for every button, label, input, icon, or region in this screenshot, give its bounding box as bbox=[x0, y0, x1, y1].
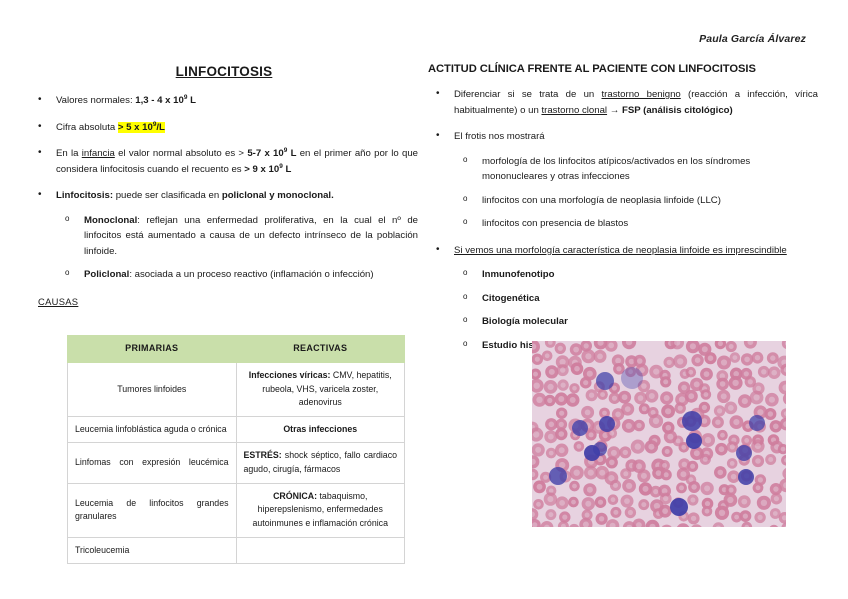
rbc-central-pallor bbox=[636, 463, 642, 469]
rbc-central-pallor bbox=[560, 367, 565, 372]
rbc-central-pallor bbox=[702, 346, 708, 352]
rbc-central-pallor bbox=[690, 464, 695, 469]
rbc-central-pallor bbox=[733, 371, 739, 377]
rbc-central-pallor bbox=[769, 397, 775, 403]
rbc-central-pallor bbox=[664, 472, 669, 477]
rbc-central-pallor bbox=[570, 397, 576, 403]
cell-reactiva: ESTRÉS: shock séptico, fallo cardiaco ag… bbox=[236, 443, 405, 483]
column-header-primarias: PRIMARIAS bbox=[68, 336, 237, 363]
rbc-central-pallor bbox=[612, 396, 617, 401]
bullet-diferenciar: Diferenciar si se trata de un trastorno … bbox=[428, 87, 818, 118]
sub-bullet-biologia-molecular: Biología molecular bbox=[454, 314, 818, 330]
rbc-central-pallor bbox=[708, 355, 714, 361]
rbc-central-pallor bbox=[691, 516, 696, 521]
left-column: LINFOCITOSIS Valores normales: 1,3 - 4 x… bbox=[30, 64, 418, 294]
rbc-central-pallor bbox=[643, 486, 649, 492]
rbc-central-pallor bbox=[705, 437, 711, 443]
rbc-central-pallor bbox=[719, 510, 725, 516]
rbc-central-pallor bbox=[680, 471, 686, 477]
rbc-central-pallor bbox=[679, 396, 685, 402]
cell-primaria: Leucemia linfoblástica aguda o crónica bbox=[68, 416, 237, 443]
rbc-central-pallor bbox=[534, 383, 540, 389]
bullet-frotis: El frotis nos mostrará morfología de los… bbox=[428, 129, 818, 232]
lymphocyte bbox=[749, 415, 765, 431]
rbc-central-pallor bbox=[558, 346, 563, 351]
rbc-central-pallor bbox=[585, 513, 590, 518]
highlight-part: > 5 x 10 bbox=[118, 122, 153, 133]
rbc-central-pallor bbox=[549, 369, 555, 375]
sub-bullet-monoclonal: Monoclonal: reflejan una enfermedad prol… bbox=[56, 213, 418, 260]
rbc-central-pallor bbox=[734, 515, 739, 520]
rbc-central-pallor bbox=[574, 470, 580, 476]
rbc-central-pallor bbox=[609, 431, 614, 436]
rbc-central-pallor bbox=[656, 470, 662, 476]
table-row: Leucemia linfoblástica aguda o crónica O… bbox=[68, 416, 405, 443]
rbc-central-pallor bbox=[641, 473, 647, 479]
bullet-value: 1,3 - 4 x 10 bbox=[135, 95, 184, 106]
rbc-central-pallor bbox=[571, 500, 576, 505]
rbc-central-pallor bbox=[612, 386, 617, 391]
rbc-central-pallor bbox=[584, 343, 589, 348]
rbc-central-pallor bbox=[537, 484, 543, 490]
bullet-value: 5-7 x 10 bbox=[247, 148, 283, 159]
rbc-central-pallor bbox=[638, 395, 644, 401]
rbc-central-pallor bbox=[705, 501, 710, 506]
rbc-central-pallor bbox=[665, 408, 671, 414]
table-row: Tricoleucemia bbox=[68, 537, 405, 564]
rbc-central-pallor bbox=[721, 393, 727, 399]
rbc-central-pallor bbox=[533, 372, 538, 377]
rbc-central-pallor bbox=[742, 398, 748, 404]
highlighted-value: > 5 x 109/L bbox=[118, 122, 165, 133]
bullet-text: el valor normal absoluto es > bbox=[115, 148, 247, 159]
rbc-central-pallor bbox=[598, 500, 603, 505]
rbc-central-pallor bbox=[755, 443, 761, 449]
lymphocyte bbox=[599, 416, 615, 432]
rbc-central-pallor bbox=[773, 486, 778, 491]
sub-bullet-label: Policlonal bbox=[84, 269, 129, 280]
rbc-central-pallor bbox=[690, 343, 696, 349]
lymphocyte bbox=[736, 445, 752, 461]
sub-bullet-morfologia-atipicos: morfología de los linfocitos atípicos/ac… bbox=[454, 154, 818, 185]
rbc-central-pallor bbox=[773, 424, 779, 430]
author-name: Paula García Álvarez bbox=[699, 33, 806, 45]
bullet-label: Linfocitosis: bbox=[56, 190, 113, 201]
cell-primaria: Tumores linfoides bbox=[68, 362, 237, 416]
rbc-central-pallor bbox=[732, 380, 738, 386]
cell-primaria: Tricoleucemia bbox=[68, 537, 237, 564]
underlined-term: trastorno clonal bbox=[541, 105, 607, 116]
rbc-central-pallor bbox=[615, 412, 621, 418]
rbc-central-pallor bbox=[548, 512, 553, 517]
rbc-central-pallor bbox=[549, 488, 554, 493]
rbc-central-pallor bbox=[731, 474, 737, 480]
rbc-central-pallor bbox=[559, 447, 565, 453]
rbc-central-pallor bbox=[761, 500, 767, 506]
rbc-central-pallor bbox=[755, 458, 761, 464]
arrow-icon: → bbox=[607, 105, 622, 116]
right-column: ACTITUD CLÍNICA FRENTE AL PACIENTE CON L… bbox=[428, 62, 818, 364]
rbc-central-pallor bbox=[665, 449, 670, 454]
bullet-text: Valores normales: bbox=[56, 95, 135, 106]
lymphocyte bbox=[549, 467, 567, 485]
rbc-central-pallor bbox=[758, 515, 763, 520]
rbc-central-pallor bbox=[613, 510, 618, 515]
rbc-central-pallor bbox=[695, 357, 701, 363]
causas-table: PRIMARIAS REACTIVAS Tumores linfoides In… bbox=[67, 335, 405, 564]
rbc-central-pallor bbox=[597, 354, 603, 360]
table-row: Tumores linfoides Infecciones víricas: C… bbox=[68, 362, 405, 416]
rbc-central-pallor bbox=[729, 488, 734, 493]
rbc-central-pallor bbox=[758, 477, 763, 482]
rbc-central-pallor bbox=[703, 457, 708, 462]
rbc-central-pallor bbox=[543, 475, 548, 480]
micrograph-canvas bbox=[532, 341, 786, 527]
rbc-central-pallor bbox=[681, 445, 686, 450]
sub-bullet-label: Inmunofenotipo bbox=[482, 269, 554, 280]
rbc-central-pallor bbox=[717, 408, 722, 413]
sub-bullet-neoplasia-llc: linfocitos con una morfología de neoplas… bbox=[454, 193, 818, 209]
rbc-central-pallor bbox=[616, 366, 621, 371]
cell-primaria: Leucemia de linfocitos grandes granulare… bbox=[68, 483, 237, 537]
rbc-central-pallor bbox=[599, 516, 604, 521]
sub-bullet-label: Citogenética bbox=[482, 293, 540, 304]
rbc-central-pallor bbox=[574, 366, 580, 372]
cell-label: Otras infecciones bbox=[283, 424, 357, 434]
rbc-central-pallor bbox=[589, 393, 594, 398]
rbc-central-pallor bbox=[664, 395, 670, 401]
rbc-central-pallor bbox=[649, 393, 655, 399]
rbc-central-pallor bbox=[628, 510, 633, 515]
rbc-central-pallor bbox=[705, 509, 710, 514]
rbc-central-pallor bbox=[626, 483, 632, 489]
column-header-reactivas: REACTIVAS bbox=[236, 336, 405, 363]
rbc-central-pallor bbox=[677, 358, 683, 364]
rbc-central-pallor bbox=[756, 485, 761, 490]
sub-bullet-inmunofenotipo: Inmunofenotipo bbox=[454, 267, 818, 283]
right-bullet-list: Diferenciar si se trata de un trastorno … bbox=[428, 87, 818, 353]
rbc-central-pallor bbox=[719, 446, 725, 452]
rbc-central-pallor bbox=[694, 450, 700, 456]
rbc-central-pallor bbox=[754, 394, 760, 400]
rbc-central-pallor bbox=[547, 398, 552, 403]
rbc-central-pallor bbox=[663, 379, 668, 384]
rbc-central-pallor bbox=[653, 369, 659, 375]
rbc-central-pallor bbox=[609, 460, 615, 466]
rbc-central-pallor bbox=[559, 431, 565, 437]
bullet-text: Cifra absoluta bbox=[56, 122, 118, 133]
bullet-unit: L bbox=[283, 164, 292, 175]
bullet-imprescindible: Si vemos una morfología característica d… bbox=[428, 243, 818, 354]
rbc-central-pallor bbox=[577, 444, 582, 449]
rbc-central-pallor bbox=[662, 508, 668, 514]
rbc-central-pallor bbox=[755, 355, 760, 360]
rbc-central-pallor bbox=[559, 422, 564, 427]
rbc-central-pallor bbox=[623, 471, 628, 476]
sub-bullet-label: Monoclonal bbox=[84, 215, 137, 226]
cell-reactiva: CRÓNICA: tabaquismo, hiperepslenismo, en… bbox=[236, 483, 405, 537]
rbc-central-pallor bbox=[642, 406, 647, 411]
rbc-central-pallor bbox=[585, 410, 591, 416]
rbc-central-pallor bbox=[629, 359, 635, 365]
rbc-central-pallor bbox=[728, 405, 734, 411]
rbc-central-pallor bbox=[730, 461, 735, 466]
rbc-central-pallor bbox=[622, 394, 628, 400]
rbc-central-pallor bbox=[720, 381, 726, 387]
rbc-central-pallor bbox=[599, 470, 605, 476]
bullet-unit: L bbox=[187, 95, 196, 106]
rbc-central-pallor bbox=[548, 434, 554, 440]
rbc-central-pallor bbox=[588, 470, 594, 476]
rbc-central-pallor bbox=[559, 411, 564, 416]
lymphocyte bbox=[670, 498, 688, 516]
rbc-central-pallor bbox=[768, 411, 773, 416]
rbc-central-pallor bbox=[585, 353, 591, 359]
table-row: Leucemia de linfocitos grandes granulare… bbox=[68, 483, 405, 537]
rbc-central-pallor bbox=[558, 396, 564, 402]
causas-label: CAUSAS bbox=[38, 296, 78, 307]
blood-smear-micrograph bbox=[532, 341, 786, 527]
lymphocyte bbox=[686, 433, 702, 449]
rbc-central-pallor bbox=[662, 463, 667, 468]
rbc-central-pallor bbox=[704, 392, 709, 397]
rbc-central-pallor bbox=[704, 485, 710, 491]
lymphocyte bbox=[738, 469, 754, 485]
rbc-central-pallor bbox=[681, 385, 687, 391]
rbc-central-pallor bbox=[667, 434, 673, 440]
cell-reactiva: Infecciones víricas: CMV, hepatitis, rub… bbox=[236, 362, 405, 416]
lymphocyte bbox=[682, 411, 702, 431]
rbc-central-pallor bbox=[715, 420, 720, 425]
lymphocyte bbox=[621, 367, 643, 389]
rbc-central-pallor bbox=[624, 498, 630, 504]
rbc-central-pallor bbox=[744, 438, 749, 443]
rbc-central-pallor bbox=[720, 433, 725, 438]
rbc-central-pallor bbox=[611, 497, 616, 502]
rbc-central-pallor bbox=[768, 457, 773, 462]
rbc-central-pallor bbox=[756, 386, 761, 391]
rbc-central-pallor bbox=[648, 444, 654, 450]
rbc-central-pallor bbox=[704, 371, 710, 377]
rbc-central-pallor bbox=[587, 371, 593, 377]
bullet-text: puede ser clasificada en bbox=[113, 190, 222, 201]
rbc-central-pallor bbox=[535, 447, 541, 453]
rbc-central-pallor bbox=[781, 447, 786, 452]
cell-label: ESTRÉS: bbox=[244, 450, 282, 460]
rbc-central-pallor bbox=[602, 411, 607, 416]
lymphocyte bbox=[572, 420, 588, 436]
left-bullet-list: Valores normales: 1,3 - 4 x 109 L Cifra … bbox=[30, 93, 418, 283]
rbc-central-pallor bbox=[774, 496, 779, 501]
rbc-central-pallor bbox=[691, 484, 696, 489]
rbc-central-pallor bbox=[536, 502, 541, 507]
bullet-text: Diferenciar si se trata de un bbox=[454, 89, 602, 100]
rbc-central-pallor bbox=[653, 489, 658, 494]
rbc-central-pallor bbox=[721, 359, 727, 365]
sub-bullet-list: morfología de los linfocitos atípicos/ac… bbox=[454, 154, 818, 232]
document-page: Paula García Álvarez LINFOCITOSIS Valore… bbox=[0, 0, 848, 599]
rbc-central-pallor bbox=[667, 360, 672, 365]
rbc-central-pallor bbox=[613, 483, 618, 488]
rbc-central-pallor bbox=[733, 419, 739, 425]
rbc-central-pallor bbox=[730, 444, 735, 449]
rbc-central-pallor bbox=[637, 358, 643, 364]
rbc-central-pallor bbox=[761, 369, 766, 374]
table-body: Tumores linfoides Infecciones víricas: C… bbox=[68, 362, 405, 563]
lymphocyte bbox=[593, 442, 607, 456]
rbc-central-pallor bbox=[678, 406, 683, 411]
table-head: PRIMARIAS REACTIVAS bbox=[68, 336, 405, 363]
rbc-central-pallor bbox=[583, 380, 588, 385]
highlight-unit: /L bbox=[156, 122, 165, 133]
rbc-central-pallor bbox=[561, 383, 566, 388]
rbc-central-pallor bbox=[635, 443, 641, 449]
rbc-central-pallor bbox=[615, 358, 621, 364]
rbc-central-pallor bbox=[585, 501, 591, 507]
bullet-text: En la bbox=[56, 148, 82, 159]
underlined-term: Si vemos una morfología característica d… bbox=[454, 245, 787, 256]
underlined-term: infancia bbox=[82, 148, 115, 159]
sub-bullet-text: : asociada a un proceso reactivo (inflam… bbox=[129, 269, 373, 280]
bullet-emphasis: FSP (análisis citológico) bbox=[622, 105, 733, 116]
table-row: Linfomas con expresión leucémica ESTRÉS:… bbox=[68, 443, 405, 483]
rbc-central-pallor bbox=[545, 353, 550, 358]
rbc-central-pallor bbox=[688, 370, 693, 375]
rbc-central-pallor bbox=[733, 355, 738, 360]
sub-bullet-blastos: linfocitos con presencia de blastos bbox=[454, 216, 818, 232]
rbc-central-pallor bbox=[536, 397, 542, 403]
rbc-central-pallor bbox=[572, 484, 577, 489]
sub-bullet-citogenetica: Citogenética bbox=[454, 291, 818, 307]
rbc-central-pallor bbox=[748, 379, 753, 384]
rbc-central-pallor bbox=[666, 425, 672, 431]
bullet-text: El frotis nos mostrará bbox=[454, 131, 545, 142]
rbc-central-pallor bbox=[587, 487, 593, 493]
rbc-central-pallor bbox=[608, 343, 614, 349]
cell-label: Infecciones víricas: bbox=[249, 370, 331, 380]
rbc-central-pallor bbox=[663, 496, 668, 501]
rbc-central-pallor bbox=[757, 409, 763, 415]
rbc-central-pallor bbox=[573, 347, 579, 353]
bullet-infancia: En la infancia el valor normal absoluto … bbox=[30, 146, 418, 177]
rbc-central-pallor bbox=[682, 462, 687, 467]
rbc-central-pallor bbox=[611, 450, 617, 456]
rbc-central-pallor bbox=[549, 451, 554, 456]
bullet-linfocitosis-clasificacion: Linfocitosis: puede ser clasificada en p… bbox=[30, 188, 418, 283]
rbc-central-pallor bbox=[694, 381, 700, 387]
rbc-central-pallor bbox=[702, 418, 708, 424]
rbc-central-pallor bbox=[589, 432, 594, 437]
bullet-cifra-absoluta: Cifra absoluta > 5 x 109/L bbox=[30, 120, 418, 136]
cell-label: CRÓNICA: bbox=[273, 491, 317, 501]
rbc-central-pallor bbox=[548, 384, 554, 390]
bullet-valores-normales: Valores normales: 1,3 - 4 x 109 L bbox=[30, 93, 418, 109]
rbc-central-pallor bbox=[549, 422, 555, 428]
sub-bullet-label: Biología molecular bbox=[482, 316, 568, 327]
rbc-central-pallor bbox=[641, 502, 646, 507]
sub-bullet-list: Monoclonal: reflejan una enfermedad prol… bbox=[56, 213, 418, 283]
sub-bullet-policlonal: Policlonal: asociada a un proceso reacti… bbox=[56, 267, 418, 283]
rbc-central-pallor bbox=[637, 423, 642, 428]
rbc-central-pallor bbox=[773, 511, 778, 516]
rbc-central-pallor bbox=[676, 439, 681, 444]
cell-reactiva-empty bbox=[236, 537, 405, 564]
underlined-term: trastorno benigno bbox=[602, 89, 681, 100]
bullet-value: > 9 x 10 bbox=[244, 164, 279, 175]
bullet-emphasis: policlonal y monoclonal. bbox=[222, 190, 334, 201]
rbc-central-pallor bbox=[718, 341, 723, 346]
rbc-central-pallor bbox=[653, 418, 659, 424]
rbc-central-pallor bbox=[679, 485, 684, 490]
rbc-central-pallor bbox=[559, 500, 565, 506]
rbc-central-pallor bbox=[688, 393, 694, 399]
rbc-central-pallor bbox=[562, 515, 567, 520]
rbc-central-pallor bbox=[771, 370, 777, 376]
rbc-central-pallor bbox=[744, 371, 749, 376]
rbc-central-pallor bbox=[626, 423, 632, 429]
cell-reactiva: Otras infecciones bbox=[236, 416, 405, 443]
lymphocyte bbox=[596, 372, 614, 390]
rbc-central-pallor bbox=[729, 344, 734, 349]
rbc-central-pallor bbox=[743, 514, 748, 519]
page-title: LINFOCITOSIS bbox=[30, 64, 418, 79]
rbc-central-pallor bbox=[641, 383, 647, 389]
rbc-central-pallor bbox=[741, 499, 747, 505]
rbc-central-pallor bbox=[625, 406, 631, 412]
table-header-row: PRIMARIAS REACTIVAS bbox=[68, 336, 405, 363]
rbc-central-pallor bbox=[770, 355, 775, 360]
rbc-central-pallor bbox=[744, 357, 750, 363]
rbc-central-pallor bbox=[718, 470, 724, 476]
rbc-central-pallor bbox=[727, 497, 733, 503]
rbc-central-pallor bbox=[533, 431, 539, 437]
rbc-central-pallor bbox=[535, 357, 540, 362]
cell-primaria: Linfomas con expresión leucémica bbox=[68, 443, 237, 483]
rbc-central-pallor bbox=[623, 450, 628, 455]
rbc-central-pallor bbox=[572, 386, 577, 391]
rbc-central-pallor bbox=[702, 405, 707, 410]
rbc-central-pallor bbox=[547, 496, 553, 502]
rbc-central-pallor bbox=[690, 498, 695, 503]
section-title: ACTITUD CLÍNICA FRENTE AL PACIENTE CON L… bbox=[428, 62, 818, 76]
rbc-central-pallor bbox=[600, 392, 605, 397]
